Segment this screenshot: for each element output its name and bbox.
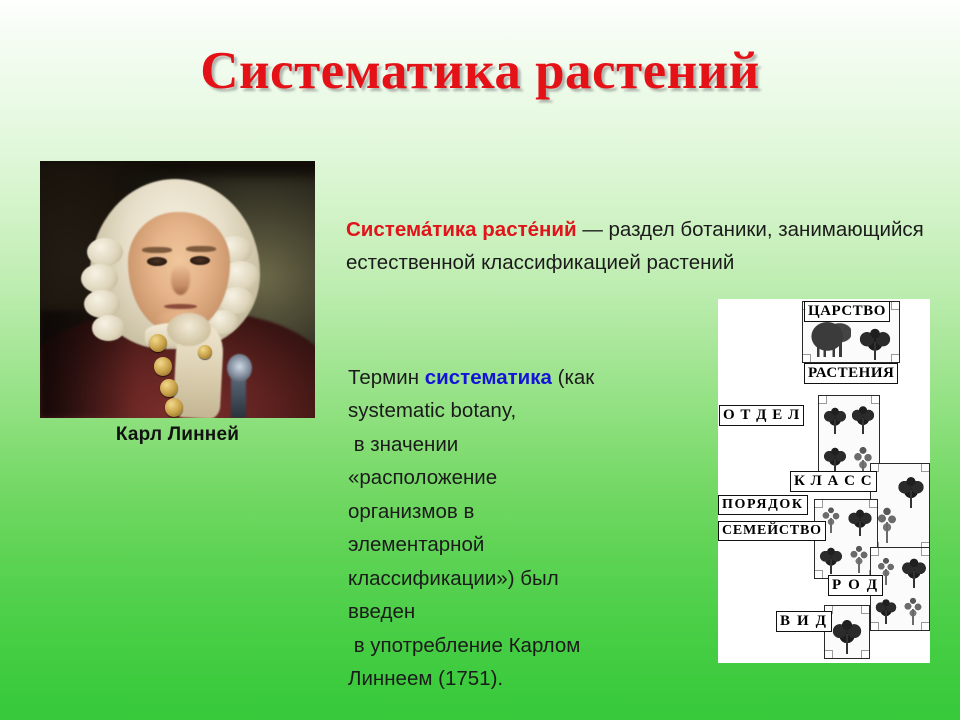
definition-paragraph: Система́тика расте́ний — раздел ботаники…	[346, 213, 946, 279]
term-line-6: классификации») был	[348, 562, 648, 596]
rank-label-class: К Л А С С	[790, 471, 877, 492]
rank-label-genus: Р О Д	[828, 575, 883, 596]
slide-canvas: Систематика растений	[0, 0, 960, 720]
coat-button	[165, 398, 183, 416]
eye-right	[190, 256, 210, 265]
plant-illustration	[845, 540, 873, 574]
medal-ribbon	[231, 377, 246, 418]
coat-button	[154, 357, 172, 375]
eyebrow-right	[186, 246, 216, 252]
term-lead: Термин	[348, 366, 425, 389]
wolf-illustration	[807, 322, 851, 358]
rank-label-kingdom: ЦАРСТВО	[804, 301, 890, 322]
nose-shape	[171, 264, 190, 295]
term-line-2: в значении	[348, 428, 648, 462]
linnaeus-portrait-image	[40, 161, 315, 418]
page-title: Систематика растений	[0, 44, 960, 100]
rank-label-family: СЕМЕЙСТВО	[718, 521, 826, 541]
plant-illustration	[855, 320, 895, 360]
rank-label-plants: РАСТЕНИЯ	[804, 363, 898, 384]
term-line-3: «расположение	[348, 461, 648, 495]
eyebrow-left	[142, 247, 172, 253]
plant-illustration	[873, 592, 899, 624]
term-origin-paragraph: Термин систематика (как systematic botan…	[348, 361, 648, 696]
plate-class-right	[870, 463, 930, 551]
mouth-shape	[164, 304, 197, 310]
plant-illustration	[821, 400, 849, 434]
wig-curl	[92, 315, 125, 341]
plant-illustration	[899, 592, 927, 626]
term-line-8: в употребление Карлом	[348, 629, 648, 663]
cravat-knot	[167, 313, 211, 346]
term-line-0: (как	[552, 366, 594, 389]
definition-term: Система́тика расте́ний	[346, 218, 577, 241]
plant-illustration	[829, 610, 865, 654]
medal-ornament	[227, 354, 252, 382]
term-line-7: введен	[348, 595, 648, 629]
portrait-figure	[40, 161, 315, 418]
taxonomy-rank-diagram: ЦАРСТВО РАСТЕНИЯ О Т Д Е Л К Л А С С	[718, 299, 930, 663]
term-line-1: systematic botany,	[348, 394, 648, 428]
plant-illustration	[817, 540, 845, 574]
portrait-caption: Карл Линней	[40, 424, 315, 446]
rank-label-order: ПОРЯДОК	[718, 495, 808, 515]
term-line-5: элементарной	[348, 528, 648, 562]
rank-label-species: В И Д	[776, 611, 832, 632]
wig-curl	[84, 290, 120, 318]
term-line-9: Линнеем (1751).	[348, 662, 648, 696]
rank-label-division: О Т Д Е Л	[719, 405, 804, 426]
wig-curl	[87, 238, 123, 266]
plant-illustration	[821, 440, 849, 474]
term-line-4: организмов в	[348, 495, 648, 529]
term-keyword: систематика	[425, 366, 552, 389]
